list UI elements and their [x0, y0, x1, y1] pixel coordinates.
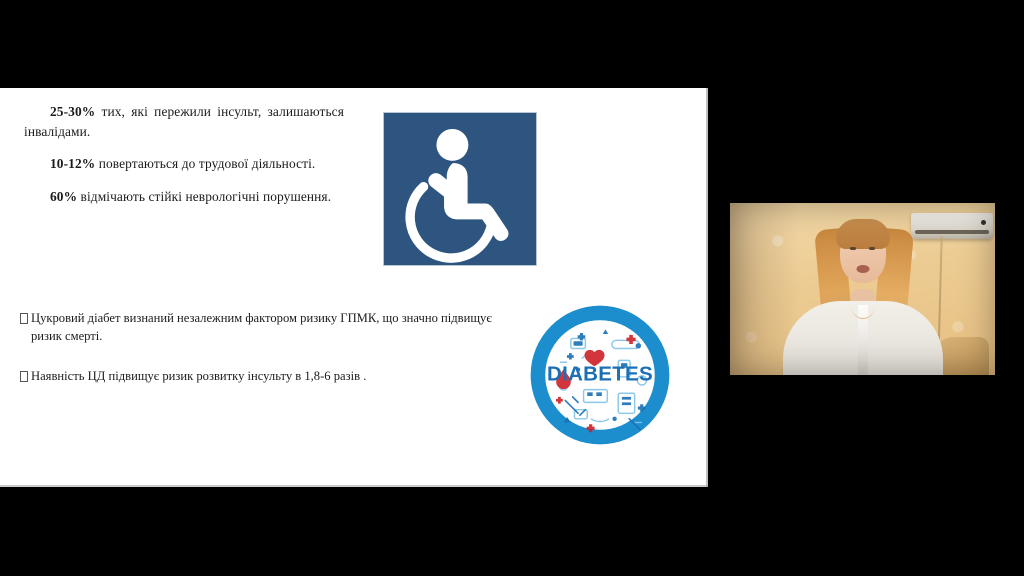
stat-paragraph-3: 60% відмічають стійкі неврологічні поруш… [24, 187, 344, 207]
bullet-text-1: Цукровий діабет визнаний незалежним факт… [31, 310, 520, 346]
stat-value-2: 10-12% [50, 156, 95, 171]
list-item: Цукровий діабет визнаний незалежним факт… [20, 310, 520, 346]
stat-value-1: 25-30% [50, 104, 95, 119]
diabetes-badge-label: DIABETES [547, 362, 653, 385]
mouth [856, 265, 869, 273]
air-conditioner [911, 213, 993, 239]
slide-bottom-border [0, 485, 708, 487]
diabetes-bullet-list: Цукровий діабет визнаний незалежним факт… [20, 310, 520, 386]
missing-glyph-box-icon [20, 313, 28, 324]
webcam-scene [730, 203, 995, 375]
diabetes-badge: DIABETES [527, 302, 673, 448]
stat-paragraph-2: 10-12% повертаються до трудової діяльнос… [24, 154, 344, 174]
bullet-text-2: Наявність ЦД підвищує ризик розвитку інс… [31, 368, 520, 386]
wheelchair-accessibility-icon [384, 113, 536, 265]
missing-glyph-box-icon [20, 371, 28, 382]
video-call-screen: 25-30% тих, які пережили інсульт, залиша… [0, 0, 1024, 576]
air-conditioner-vent [915, 230, 989, 234]
hair-top [836, 219, 890, 249]
eye-right [869, 247, 875, 250]
stroke-outcome-statistics: 25-30% тих, які пережили інсульт, залиша… [24, 102, 344, 206]
stat-value-3: 60% [50, 189, 77, 204]
participant-video-tile[interactable] [730, 203, 995, 375]
eye-left [850, 247, 856, 250]
list-item: Наявність ЦД підвищує ризик розвитку інс… [20, 368, 520, 386]
slide-right-border [706, 88, 708, 487]
stat-text-3: відмічають стійкі неврологічні порушення… [81, 189, 332, 204]
stat-text-2: повертаються до трудової діяльності. [99, 156, 316, 171]
air-conditioner-indicator [981, 220, 986, 225]
stat-paragraph-1: 25-30% тих, які пережили інсульт, залиша… [24, 102, 344, 141]
panel-splitter[interactable] [709, 88, 721, 487]
